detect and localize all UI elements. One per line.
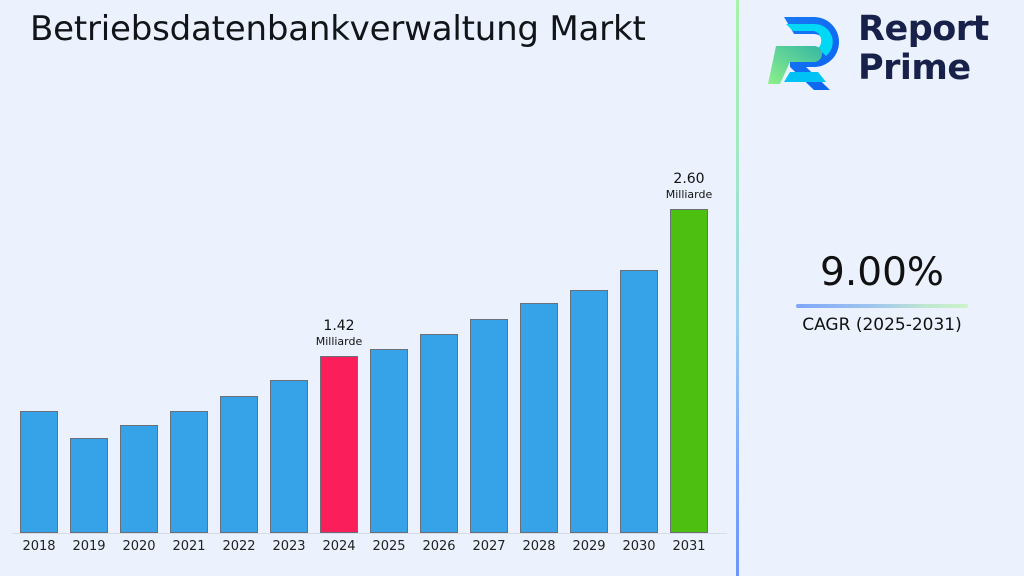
x-tick-2022: 2022 xyxy=(220,539,258,554)
brand-wordmark: Report Prime xyxy=(858,10,989,88)
x-tick-2019: 2019 xyxy=(70,539,108,554)
x-tick-2027: 2027 xyxy=(470,539,508,554)
x-tick-2018: 2018 xyxy=(20,539,58,554)
bar-2026[interactable] xyxy=(420,334,458,533)
bar-2027[interactable] xyxy=(470,319,508,533)
bar-2029[interactable] xyxy=(570,290,608,533)
brand-logo: Report Prime xyxy=(768,8,1018,94)
bar-unit-2024: Milliarde xyxy=(294,335,384,348)
brand-name-line1: Report xyxy=(858,10,989,49)
cagr-value: 9.00% xyxy=(740,250,1024,296)
x-tick-2031: 2031 xyxy=(670,539,708,554)
x-tick-2029: 2029 xyxy=(570,539,608,554)
bar-2024[interactable] xyxy=(320,356,358,533)
x-tick-2020: 2020 xyxy=(120,539,158,554)
bar-2028[interactable] xyxy=(520,303,558,533)
cagr-block: 9.00% CAGR (2025-2031) xyxy=(740,250,1024,336)
bar-2019[interactable] xyxy=(70,438,108,533)
bar-2018[interactable] xyxy=(20,411,58,533)
x-tick-2030: 2030 xyxy=(620,539,658,554)
x-tick-2028: 2028 xyxy=(520,539,558,554)
bar-2031[interactable] xyxy=(670,209,708,533)
bar-2030[interactable] xyxy=(620,270,658,533)
panel-divider xyxy=(736,0,739,576)
x-tick-2025: 2025 xyxy=(370,539,408,554)
cagr-caption: CAGR (2025-2031) xyxy=(740,314,1024,336)
cagr-divider-rule xyxy=(796,304,968,308)
bar-value-2031: 2.60 xyxy=(644,171,734,188)
x-tick-2026: 2026 xyxy=(420,539,458,554)
chart-panel: Betriebsdatenbankverwaltung Markt 201820… xyxy=(0,0,737,576)
bar-2021[interactable] xyxy=(170,411,208,533)
x-axis-line xyxy=(12,533,727,534)
bar-chart-plot: 20182019202020212022202320241.42Milliard… xyxy=(0,0,737,576)
x-tick-2024: 2024 xyxy=(320,539,358,554)
bar-2025[interactable] xyxy=(370,349,408,533)
bar-value-label-2031: 2.60Milliarde xyxy=(644,171,734,201)
brand-name-line2: Prime xyxy=(858,49,989,88)
bar-value-2024: 1.42 xyxy=(294,318,384,335)
bar-2022[interactable] xyxy=(220,396,258,533)
report-prime-logo-icon xyxy=(768,12,848,90)
bar-value-label-2024: 1.42Milliarde xyxy=(294,318,384,348)
bar-2020[interactable] xyxy=(120,425,158,533)
bar-unit-2031: Milliarde xyxy=(644,188,734,201)
bar-2023[interactable] xyxy=(270,380,308,533)
poster-root: Betriebsdatenbankverwaltung Markt 201820… xyxy=(0,0,1024,576)
brand-panel: Report Prime 9.00% CAGR (2025-2031) xyxy=(740,0,1024,576)
x-tick-2023: 2023 xyxy=(270,539,308,554)
x-tick-2021: 2021 xyxy=(170,539,208,554)
